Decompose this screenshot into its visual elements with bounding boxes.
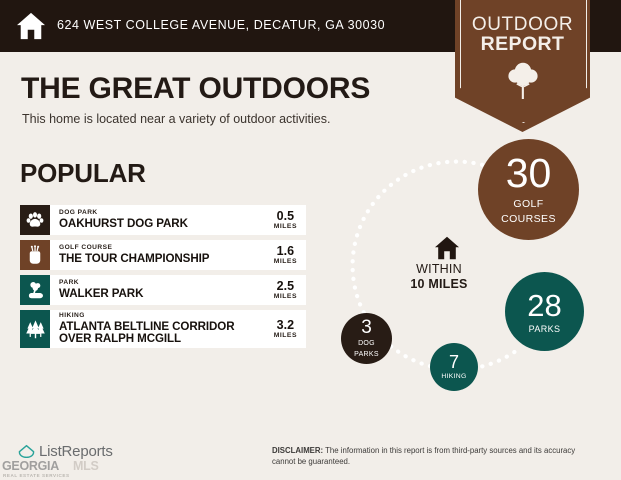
disclaimer-label: DISCLAIMER:: [272, 446, 323, 455]
list-item-distance: 3.2 MILES: [274, 319, 306, 339]
list-item-text: DOG PARK OAKHURST DOG PARK: [50, 210, 274, 230]
list-item-icon-box: [20, 240, 50, 270]
bubble-label-line1: GOLF: [513, 199, 543, 210]
list-item[interactable]: PARK WALKER PARK 2.5 MILES: [20, 275, 306, 305]
distance-unit: MILES: [274, 332, 297, 339]
outdoor-report-page: 624 WEST COLLEGE AVENUE, DECATUR, GA 300…: [0, 0, 621, 480]
distance-value: 1.6: [274, 245, 297, 258]
distance-unit: MILES: [274, 223, 297, 230]
tree-icon: [505, 59, 541, 101]
badge-line-2: REPORT: [455, 33, 590, 56]
list-item-name: OAKHURST DOG PARK: [59, 218, 274, 230]
home-icon: [16, 12, 46, 40]
list-item-text: PARK WALKER PARK: [50, 280, 274, 300]
within-label-line2: 10 MILES: [384, 277, 494, 291]
distance-value: 2.5: [274, 280, 297, 293]
georgia-mls-logo: GEORGIA MLS REAL ESTATE SERVICES: [0, 457, 120, 480]
list-item-category: HIKING: [59, 313, 274, 320]
paw-icon: [25, 210, 45, 230]
bubble-parks[interactable]: 28 PARKS: [505, 272, 584, 351]
list-item-name: WALKER PARK: [59, 288, 274, 300]
property-address: 624 WEST COLLEGE AVENUE, DECATUR, GA 300…: [57, 18, 385, 32]
popular-section-title: POPULAR: [20, 158, 146, 189]
list-item[interactable]: GOLF COURSE THE TOUR CHAMPIONSHIP 1.6 MI…: [20, 240, 306, 270]
list-item[interactable]: HIKING ATLANTA BELTLINE CORRIDOR OVER RA…: [20, 310, 306, 348]
bubble-value: 28: [527, 290, 561, 321]
bubble-dog-parks[interactable]: 3 DOG PARKS: [341, 313, 392, 364]
bubble-label-line1: HIKING: [441, 374, 466, 381]
distance-value: 0.5: [274, 210, 297, 223]
within-label-line1: WITHIN: [384, 262, 494, 276]
list-item-icon-box: [20, 310, 50, 348]
list-item-distance: 1.6 MILES: [274, 245, 306, 265]
bubble-value: 3: [361, 318, 372, 337]
outdoor-counts-diagram: 30 GOLF COURSES 28 PARKS 3 DOG PARKS 7 H…: [320, 133, 621, 403]
list-item-distance: 0.5 MILES: [274, 210, 306, 230]
disclaimer: DISCLAIMER: The information in this repo…: [272, 445, 592, 468]
list-item-name-line2: OVER RALPH MCGILL: [59, 333, 274, 345]
distance-unit: MILES: [274, 293, 297, 300]
popular-list: DOG PARK OAKHURST DOG PARK 0.5 MILES: [20, 205, 306, 353]
list-item-category: GOLF COURSE: [59, 245, 274, 252]
mls-tagline: REAL ESTATE SERVICES: [3, 473, 70, 478]
bubble-value: 30: [506, 153, 552, 194]
page-subtitle: This home is located near a variety of o…: [22, 112, 330, 126]
mls-name-2: MLS: [73, 459, 99, 473]
bubble-golf-courses[interactable]: 30 GOLF COURSES: [478, 139, 579, 240]
page-title: THE GREAT OUTDOORS: [21, 72, 370, 106]
mls-name-1: GEORGIA: [2, 459, 59, 473]
list-item-category: DOG PARK: [59, 210, 274, 217]
list-item-text: GOLF COURSE THE TOUR CHAMPIONSHIP: [50, 245, 274, 265]
distance-value: 3.2: [274, 319, 297, 332]
bubble-label-line1: DOG: [358, 340, 375, 348]
bubble-value: 7: [449, 353, 459, 371]
list-item[interactable]: DOG PARK OAKHURST DOG PARK 0.5 MILES: [20, 205, 306, 235]
list-item-distance: 2.5 MILES: [274, 280, 306, 300]
bubble-label-line1: PARKS: [529, 325, 561, 334]
list-item-category: PARK: [59, 280, 274, 287]
pine-trees-icon: [25, 319, 46, 340]
home-icon: [434, 236, 460, 260]
bubble-hiking[interactable]: 7 HIKING: [430, 343, 478, 391]
list-item-icon-box: [20, 275, 50, 305]
park-tree-icon: [25, 280, 46, 301]
bubble-label-line2: COURSES: [501, 214, 556, 225]
list-item-icon-box: [20, 205, 50, 235]
list-item-name: THE TOUR CHAMPIONSHIP: [59, 253, 274, 265]
golf-bag-icon: [25, 245, 45, 265]
list-item-text: HIKING ATLANTA BELTLINE CORRIDOR OVER RA…: [50, 313, 274, 344]
outdoor-report-badge: OUTDOOR REPORT: [455, 0, 590, 132]
bubble-label-line2: PARKS: [354, 351, 379, 359]
distance-unit: MILES: [274, 258, 297, 265]
